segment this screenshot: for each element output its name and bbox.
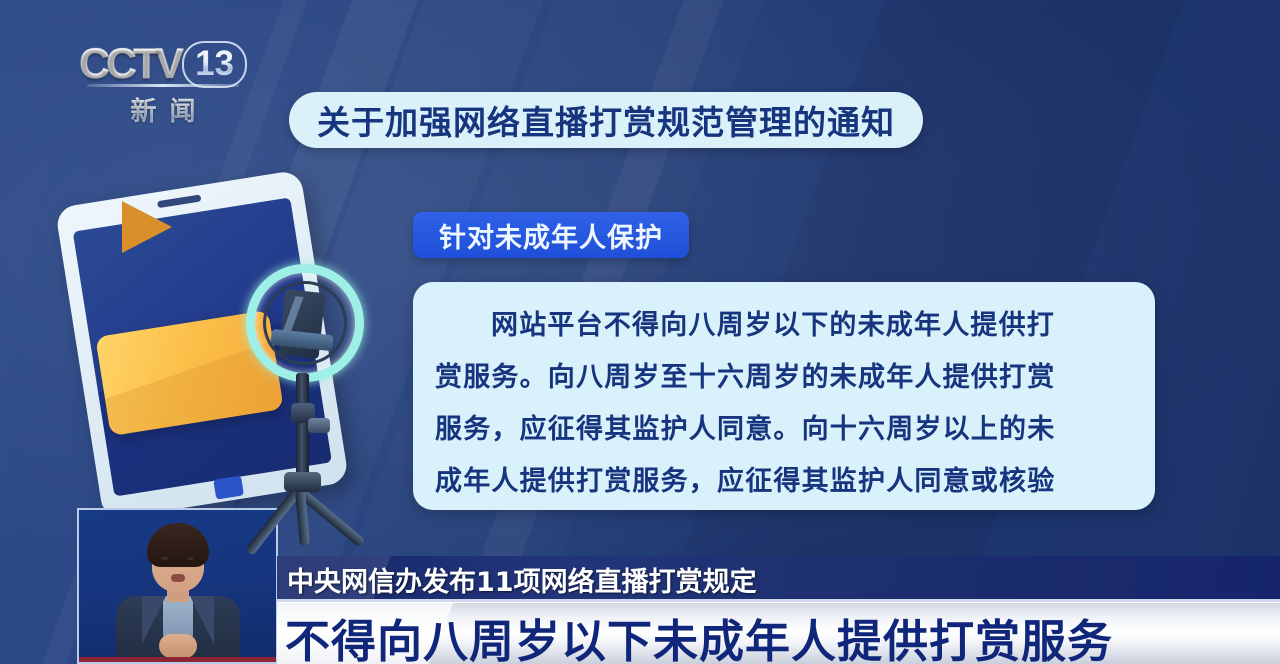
cctv-wordmark: CCTV — [79, 40, 180, 89]
graphic-body-card: 网站平台不得向八周岁以下的未成年人提供打 赏服务。向八周岁至十六周岁的未成年人提… — [413, 282, 1155, 510]
body-line: 服务，应征得其监护人同意。向十六周岁以上的未 — [435, 404, 1133, 456]
tripod-knob-secondary — [308, 418, 330, 433]
anchor-bottom-strip — [79, 657, 276, 662]
graphic-subtitle-text: 针对未成年人保护 — [439, 216, 663, 255]
channel-logo: CCTV 13 新闻 — [78, 40, 248, 140]
anchor-eye-left — [161, 557, 168, 560]
graphic-subtitle-pill: 针对未成年人保护 — [413, 212, 689, 258]
news-anchor-pip — [77, 508, 278, 664]
lower-third-headline-bar: 不得向八周岁以下未成年人提供打赏服务 — [277, 602, 1280, 664]
anchor-hands — [159, 634, 197, 658]
anchor-mouth — [171, 574, 185, 582]
channel-number: 13 — [182, 41, 247, 87]
body-line: 网站平台不得向八周岁以下的未成年人提供打 — [435, 300, 1133, 352]
channel-name-cn: 新闻 — [78, 91, 248, 128]
lower-third-headline-text: 不得向八周岁以下未成年人提供打赏服务 — [285, 605, 1113, 664]
tripod-hub — [284, 472, 321, 492]
play-triangle-icon — [122, 201, 172, 253]
broadcast-stage: CCTV 13 新闻 关于加强网络直播打赏规范管理的通知 针对未成年人保护 — [0, 0, 1280, 664]
body-line: 赏服务。向八周岁至十六周岁的未成年人提供打赏 — [435, 352, 1133, 404]
tablet-home-button-icon — [213, 476, 244, 500]
anchor-hair — [147, 523, 209, 567]
anchor-eye-right — [187, 557, 194, 560]
graphic-title-text: 关于加强网络直播打赏规范管理的通知 — [317, 96, 895, 144]
lower-third-topic-text: 中央网信办发布11项网络直播打赏规定 — [287, 560, 757, 599]
body-line: 成年人提供打赏服务，应征得其监护人同意或核验 — [435, 456, 1133, 508]
logo-row: CCTV 13 — [78, 40, 248, 89]
lower-third-topic-bar: 中央网信办发布11项网络直播打赏规定 — [277, 556, 1280, 602]
graphic-title-pill: 关于加强网络直播打赏规范管理的通知 — [289, 92, 923, 148]
